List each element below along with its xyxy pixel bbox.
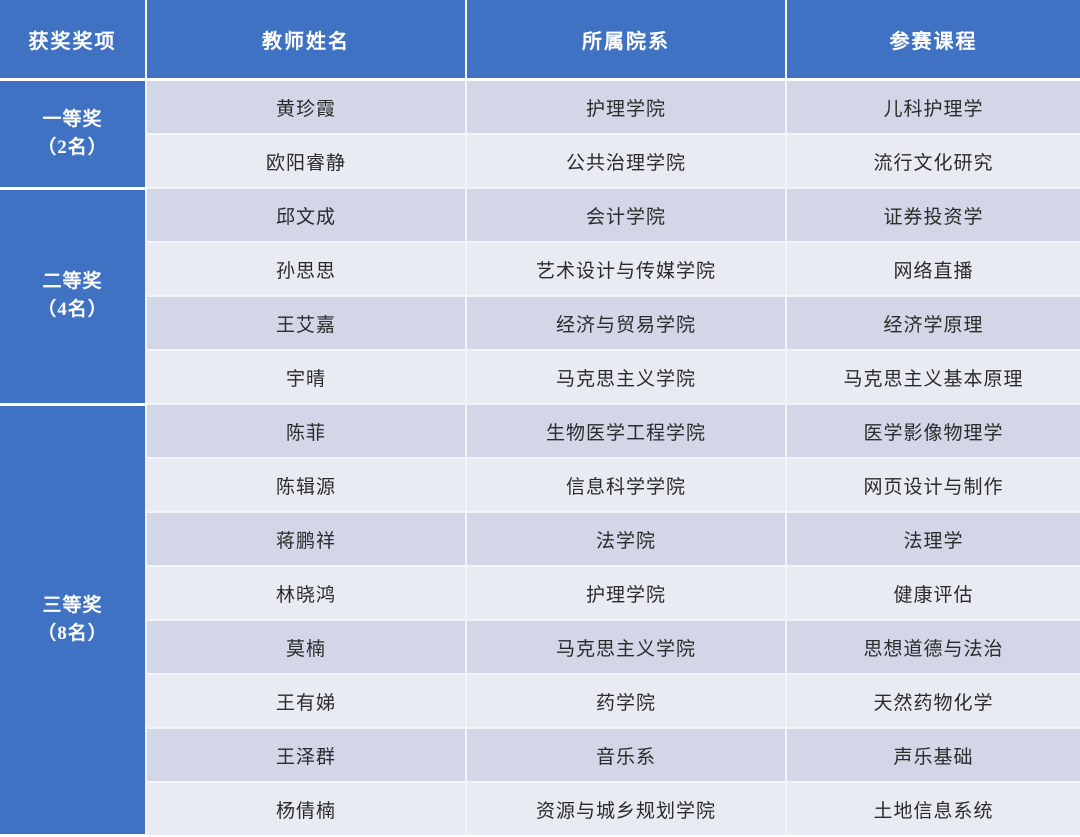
award-group-title: 三等奖 <box>0 592 145 620</box>
award-results-table: 获奖奖项 教师姓名 所属院系 参赛课程 一等奖（2名）黄珍霞护理学院儿科护理学欧… <box>0 0 1080 837</box>
course-cell: 儿科护理学 <box>786 80 1080 135</box>
award-group-cell: 二等奖（4名） <box>0 188 146 404</box>
teacher-name-cell: 王泽群 <box>146 728 466 782</box>
course-cell: 天然药物化学 <box>786 674 1080 728</box>
column-header-award: 获奖奖项 <box>0 0 146 80</box>
table-row: 王艾嘉经济与贸易学院经济学原理 <box>0 296 1080 350</box>
department-cell: 生物医学工程学院 <box>466 404 786 458</box>
teacher-name-cell: 黄珍霞 <box>146 80 466 135</box>
course-cell: 经济学原理 <box>786 296 1080 350</box>
department-cell: 法学院 <box>466 512 786 566</box>
award-group-count: （8名） <box>0 620 145 648</box>
table-row: 欧阳睿静公共治理学院流行文化研究 <box>0 134 1080 188</box>
table-header-row: 获奖奖项 教师姓名 所属院系 参赛课程 <box>0 0 1080 80</box>
department-cell: 会计学院 <box>466 188 786 242</box>
course-cell: 证券投资学 <box>786 188 1080 242</box>
table-row: 蒋鹏祥法学院法理学 <box>0 512 1080 566</box>
teacher-name-cell: 欧阳睿静 <box>146 134 466 188</box>
department-cell: 音乐系 <box>466 728 786 782</box>
course-cell: 声乐基础 <box>786 728 1080 782</box>
course-cell: 流行文化研究 <box>786 134 1080 188</box>
course-cell: 医学影像物理学 <box>786 404 1080 458</box>
column-header-course: 参赛课程 <box>786 0 1080 80</box>
table-row: 陈辑源信息科学学院网页设计与制作 <box>0 458 1080 512</box>
teacher-name-cell: 王有娣 <box>146 674 466 728</box>
teacher-name-cell: 孙思思 <box>146 242 466 296</box>
department-cell: 护理学院 <box>466 80 786 135</box>
course-cell: 思想道德与法治 <box>786 620 1080 674</box>
table-row: 林晓鸿护理学院健康评估 <box>0 566 1080 620</box>
award-group-title: 二等奖 <box>0 268 145 296</box>
table-row: 宇晴马克思主义学院马克思主义基本原理 <box>0 350 1080 404</box>
teacher-name-cell: 邱文成 <box>146 188 466 242</box>
department-cell: 资源与城乡规划学院 <box>466 782 786 835</box>
table-row: 王泽群音乐系声乐基础 <box>0 728 1080 782</box>
department-cell: 经济与贸易学院 <box>466 296 786 350</box>
teacher-name-cell: 杨倩楠 <box>146 782 466 835</box>
award-group-cell: 三等奖（8名） <box>0 404 146 835</box>
course-cell: 网络直播 <box>786 242 1080 296</box>
course-cell: 马克思主义基本原理 <box>786 350 1080 404</box>
course-cell: 网页设计与制作 <box>786 458 1080 512</box>
teacher-name-cell: 王艾嘉 <box>146 296 466 350</box>
award-group-title: 一等奖 <box>0 106 145 134</box>
award-group-count: （2名） <box>0 134 145 162</box>
course-cell: 法理学 <box>786 512 1080 566</box>
column-header-teacher-name: 教师姓名 <box>146 0 466 80</box>
table-row: 王有娣药学院天然药物化学 <box>0 674 1080 728</box>
teacher-name-cell: 蒋鹏祥 <box>146 512 466 566</box>
table-body: 一等奖（2名）黄珍霞护理学院儿科护理学欧阳睿静公共治理学院流行文化研究二等奖（4… <box>0 80 1080 836</box>
column-header-department: 所属院系 <box>466 0 786 80</box>
department-cell: 信息科学学院 <box>466 458 786 512</box>
department-cell: 马克思主义学院 <box>466 350 786 404</box>
award-group-cell: 一等奖（2名） <box>0 80 146 189</box>
table-row: 杨倩楠资源与城乡规划学院土地信息系统 <box>0 782 1080 835</box>
table-row: 莫楠马克思主义学院思想道德与法治 <box>0 620 1080 674</box>
course-cell: 土地信息系统 <box>786 782 1080 835</box>
table-header: 获奖奖项 教师姓名 所属院系 参赛课程 <box>0 0 1080 80</box>
teacher-name-cell: 陈辑源 <box>146 458 466 512</box>
department-cell: 艺术设计与传媒学院 <box>466 242 786 296</box>
department-cell: 公共治理学院 <box>466 134 786 188</box>
teacher-name-cell: 宇晴 <box>146 350 466 404</box>
teacher-name-cell: 林晓鸿 <box>146 566 466 620</box>
table-row: 孙思思艺术设计与传媒学院网络直播 <box>0 242 1080 296</box>
teacher-name-cell: 陈菲 <box>146 404 466 458</box>
department-cell: 马克思主义学院 <box>466 620 786 674</box>
table-row: 一等奖（2名）黄珍霞护理学院儿科护理学 <box>0 80 1080 135</box>
course-cell: 健康评估 <box>786 566 1080 620</box>
department-cell: 护理学院 <box>466 566 786 620</box>
award-group-count: （4名） <box>0 296 145 324</box>
table-row: 二等奖（4名）邱文成会计学院证券投资学 <box>0 188 1080 242</box>
department-cell: 药学院 <box>466 674 786 728</box>
teacher-name-cell: 莫楠 <box>146 620 466 674</box>
table-row: 三等奖（8名）陈菲生物医学工程学院医学影像物理学 <box>0 404 1080 458</box>
